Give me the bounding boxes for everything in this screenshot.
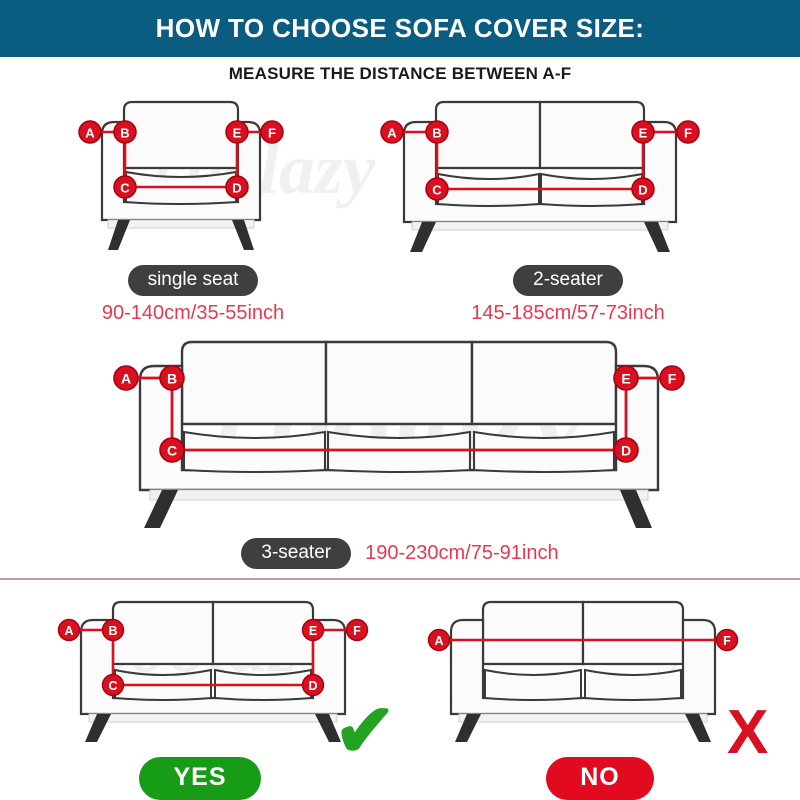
point-c-label: C — [108, 679, 117, 693]
point-d-label: D — [232, 181, 241, 196]
backrest-left — [436, 102, 540, 168]
leg-left — [144, 490, 178, 528]
status-badge-no: NO — [546, 757, 654, 800]
three-seater-illustration: A B C D E F — [110, 332, 690, 537]
dimension-three-seater: 190-230cm/75-91inch — [365, 542, 558, 565]
backrest-left — [483, 602, 583, 664]
two-seater-illustration: A B C D E F — [378, 92, 718, 262]
diagram-single-seat: A B C D E F — [78, 92, 308, 262]
point-c-label: C — [120, 181, 130, 196]
point-f-label: F — [268, 126, 276, 141]
point-b-label: B — [108, 624, 117, 638]
section-divider — [0, 578, 800, 580]
point-b-label: B — [432, 126, 441, 141]
dimension-two-seater: 145-185cm/57-73inch — [428, 302, 708, 325]
point-a-label: A — [434, 634, 443, 648]
label-pill-two-seater: 2-seater — [513, 265, 623, 296]
point-b-label: B — [167, 371, 177, 387]
point-f-label: F — [723, 634, 731, 648]
label-pill-single-seat: single seat — [128, 265, 259, 296]
point-e-label: E — [621, 371, 630, 387]
subtitle: MEASURE THE DISTANCE BETWEEN A-F — [0, 64, 800, 84]
backrest-left — [182, 342, 326, 424]
diagram-three-seater: A B C D E F — [110, 332, 690, 537]
backrest-middle — [326, 342, 472, 424]
seat-cushion-middle — [328, 432, 470, 472]
point-b-label: B — [120, 126, 129, 141]
incorrect-sofa-illustration: A F — [425, 592, 755, 742]
backrest-right — [472, 342, 616, 424]
point-e-label: E — [639, 126, 648, 141]
badge-no-wrap: NO — [400, 757, 800, 800]
backrest-left — [113, 602, 213, 664]
page-title: HOW TO CHOOSE SOFA COVER SIZE: — [156, 13, 645, 44]
seat-cushion-right — [474, 432, 614, 472]
point-d-label: D — [638, 183, 647, 198]
header-band: HOW TO CHOOSE SOFA COVER SIZE: — [0, 0, 800, 57]
point-a-label: A — [387, 126, 397, 141]
point-e-label: E — [233, 126, 242, 141]
point-e-label: E — [309, 624, 317, 638]
sofa-base — [108, 220, 254, 228]
point-f-label: F — [353, 624, 361, 638]
point-c-label: C — [432, 183, 442, 198]
diagram-incorrect-example: A F — [425, 592, 755, 742]
point-a-label: A — [121, 371, 131, 387]
caption-two-seater: 2-seater 145-185cm/57-73inch — [428, 265, 708, 325]
point-d-label: D — [308, 679, 317, 693]
status-badge-yes: YES — [139, 757, 260, 800]
backrest-right — [540, 102, 644, 168]
seat-cushion-left — [485, 670, 581, 700]
seat-cushion-right — [585, 670, 681, 700]
label-pill-three-seater: 3-seater — [241, 538, 351, 569]
caption-single-seat: single seat 90-140cm/35-55inch — [78, 265, 308, 325]
x-mark-icon: X — [727, 702, 768, 764]
backrest-right — [583, 602, 683, 664]
point-c-label: C — [167, 443, 177, 459]
sofa-base — [412, 222, 668, 230]
backrest-right — [213, 602, 313, 664]
point-a-label: A — [85, 126, 95, 141]
sofa-base — [459, 714, 707, 722]
dimension-single-seat: 90-140cm/35-55inch — [78, 302, 308, 325]
single-seat-illustration: A B C D E F — [78, 92, 308, 262]
sofa-base — [89, 714, 337, 722]
sofa-base — [150, 490, 648, 500]
point-f-label: F — [684, 126, 692, 141]
infographic-page: HOW TO CHOOSE SOFA COVER SIZE: MEASURE T… — [0, 0, 800, 800]
badge-yes-wrap: YES — [0, 757, 400, 800]
point-d-label: D — [621, 443, 631, 459]
seat-cushion-left — [184, 432, 325, 472]
diagram-two-seater: A B C D E F — [378, 92, 718, 262]
caption-three-seater: 3-seater 190-230cm/75-91inch — [0, 538, 800, 569]
point-a-label: A — [64, 624, 73, 638]
point-f-label: F — [668, 371, 677, 387]
backrest — [124, 102, 238, 168]
